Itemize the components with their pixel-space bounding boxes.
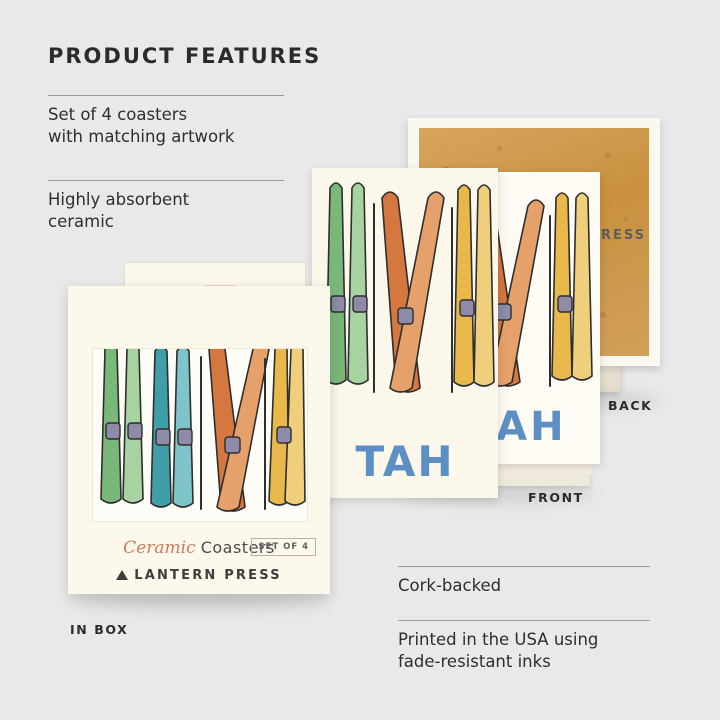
product-in-box-view: Ceramic Coasters SET OF 4 LANTERN PRESS	[62, 262, 342, 602]
ski-artwork-in-box	[93, 349, 307, 521]
feature-1-line-2: with matching artwork	[48, 126, 284, 148]
package-brand-name: LANTERN PRESS	[68, 568, 330, 583]
feature-3-line-1: Cork-backed	[398, 575, 650, 597]
caption-back: BACK	[608, 398, 652, 413]
feature-4-line-1: Printed in the USA using	[398, 629, 650, 651]
feature-4-line-2: fade-resistant inks	[398, 651, 650, 673]
feature-2-line-1: Highly absorbent	[48, 189, 284, 211]
feature-item-4: Printed in the USA using fade-resistant …	[398, 620, 650, 673]
feature-item-1: Set of 4 coasters with matching artwork	[48, 95, 284, 148]
package-box: Ceramic Coasters SET OF 4 LANTERN PRESS	[68, 286, 330, 594]
caption-in-box: IN BOX	[70, 622, 128, 637]
feature-item-2: Highly absorbent ceramic	[48, 180, 284, 233]
feature-item-3: Cork-backed	[398, 566, 650, 597]
lantern-press-logo-icon	[116, 570, 128, 580]
package-window	[92, 348, 308, 522]
feature-1-line-1: Set of 4 coasters	[48, 104, 284, 126]
caption-front: FRONT	[528, 490, 584, 505]
set-of-4-badge: SET OF 4	[251, 538, 316, 556]
product-feature-sheet: PRODUCT FEATURES PRESS	[0, 0, 720, 720]
package-brand-name-text: LANTERN PRESS	[134, 568, 282, 583]
feature-2-line-2: ceramic	[48, 211, 284, 233]
brand-script-text: Ceramic	[123, 538, 195, 558]
page-title: PRODUCT FEATURES	[48, 44, 321, 68]
